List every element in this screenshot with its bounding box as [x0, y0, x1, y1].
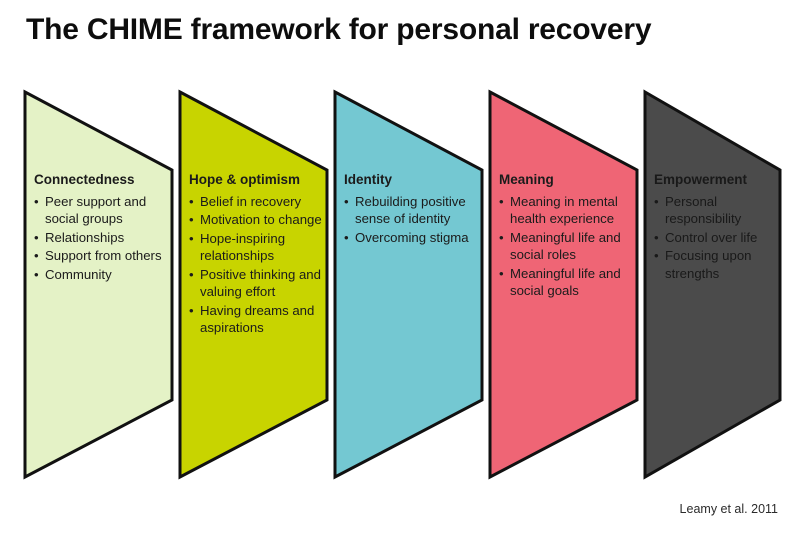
- list-item: •Peer support and social groups: [34, 193, 170, 228]
- list-item: •Personal responsibility: [654, 193, 774, 228]
- bullet-icon: •: [499, 193, 504, 211]
- bullet-icon: •: [499, 265, 504, 283]
- list-item-label: Positive thinking and valuing effort: [200, 267, 321, 300]
- list-item: •Meaning in mental health experience: [499, 193, 635, 228]
- list-item: •Overcoming stigma: [344, 229, 480, 247]
- diagram-canvas: The CHIME framework for personal recover…: [0, 0, 800, 533]
- bullet-icon: •: [189, 193, 194, 211]
- list-item-label: Support from others: [45, 248, 162, 263]
- list-item-label: Motivation to change: [200, 212, 322, 227]
- panel-heading-connectedness: Connectedness: [34, 172, 170, 188]
- panel-heading-identity: Identity: [344, 172, 480, 188]
- list-item: •Rebuilding positive sense of identity: [344, 193, 480, 228]
- list-item: •Positive thinking and valuing effort: [189, 266, 325, 301]
- list-item: •Relationships: [34, 229, 170, 247]
- panel-list-meaning: •Meaning in mental health experience •Me…: [499, 193, 635, 300]
- bullet-icon: •: [189, 266, 194, 284]
- panel-content-meaning: Meaning •Meaning in mental health experi…: [499, 172, 635, 301]
- panel-shape-empowerment[interactable]: [645, 92, 780, 477]
- bullet-icon: •: [344, 193, 349, 211]
- list-item-label: Personal responsibility: [665, 194, 741, 227]
- panel-list-connectedness: •Peer support and social groups •Relatio…: [34, 193, 170, 284]
- panel-content-hope-and-optimism: Hope & optimism •Belief in recovery •Mot…: [189, 172, 325, 338]
- bullet-icon: •: [189, 211, 194, 229]
- citation-label: Leamy et al. 2011: [680, 502, 778, 516]
- list-item-label: Meaningful life and social goals: [510, 266, 621, 299]
- bullet-icon: •: [499, 229, 504, 247]
- list-item: •Focusing upon strengths: [654, 247, 774, 282]
- list-item: •Motivation to change: [189, 211, 325, 229]
- list-item-label: Peer support and social groups: [45, 194, 146, 227]
- bullet-icon: •: [34, 266, 39, 284]
- panel-heading-meaning: Meaning: [499, 172, 635, 188]
- bullet-icon: •: [654, 193, 659, 211]
- list-item-label: Focusing upon strengths: [665, 248, 752, 281]
- bullet-icon: •: [344, 229, 349, 247]
- list-item-label: Control over life: [665, 230, 757, 245]
- panel-heading-empowerment: Empowerment: [654, 172, 774, 188]
- bullet-icon: •: [654, 247, 659, 265]
- list-item-label: Having dreams and aspirations: [200, 303, 314, 336]
- list-item: •Belief in recovery: [189, 193, 325, 211]
- panel-heading-hope-and-optimism: Hope & optimism: [189, 172, 325, 188]
- list-item-label: Hope-inspiring relationships: [200, 231, 285, 264]
- list-item: •Having dreams and aspirations: [189, 302, 325, 337]
- panel-list-identity: •Rebuilding positive sense of identity •…: [344, 193, 480, 247]
- list-item-label: Rebuilding positive sense of identity: [355, 194, 466, 227]
- bullet-icon: •: [34, 229, 39, 247]
- bullet-icon: •: [189, 302, 194, 320]
- panel-list-hope-and-optimism: •Belief in recovery •Motivation to chang…: [189, 193, 325, 337]
- panel-shape-identity[interactable]: [335, 92, 482, 477]
- list-item: •Control over life: [654, 229, 774, 247]
- list-item: •Meaningful life and social goals: [499, 265, 635, 300]
- bullet-icon: •: [654, 229, 659, 247]
- list-item-label: Relationships: [45, 230, 124, 245]
- list-item: •Meaningful life and social roles: [499, 229, 635, 264]
- panel-shape-connectedness[interactable]: [25, 92, 172, 477]
- list-item-label: Belief in recovery: [200, 194, 301, 209]
- bullet-icon: •: [34, 247, 39, 265]
- bullet-icon: •: [34, 193, 39, 211]
- list-item-label: Overcoming stigma: [355, 230, 469, 245]
- list-item: •Community: [34, 266, 170, 284]
- panel-content-empowerment: Empowerment •Personal responsibility •Co…: [654, 172, 774, 283]
- panel-list-empowerment: •Personal responsibility •Control over l…: [654, 193, 774, 283]
- panel-content-identity: Identity •Rebuilding positive sense of i…: [344, 172, 480, 247]
- bullet-icon: •: [189, 230, 194, 248]
- list-item-label: Community: [45, 267, 112, 282]
- list-item: •Support from others: [34, 247, 170, 265]
- list-item-label: Meaningful life and social roles: [510, 230, 621, 263]
- panel-content-connectedness: Connectedness •Peer support and social g…: [34, 172, 170, 284]
- list-item-label: Meaning in mental health experience: [510, 194, 618, 227]
- list-item: •Hope-inspiring relationships: [189, 230, 325, 265]
